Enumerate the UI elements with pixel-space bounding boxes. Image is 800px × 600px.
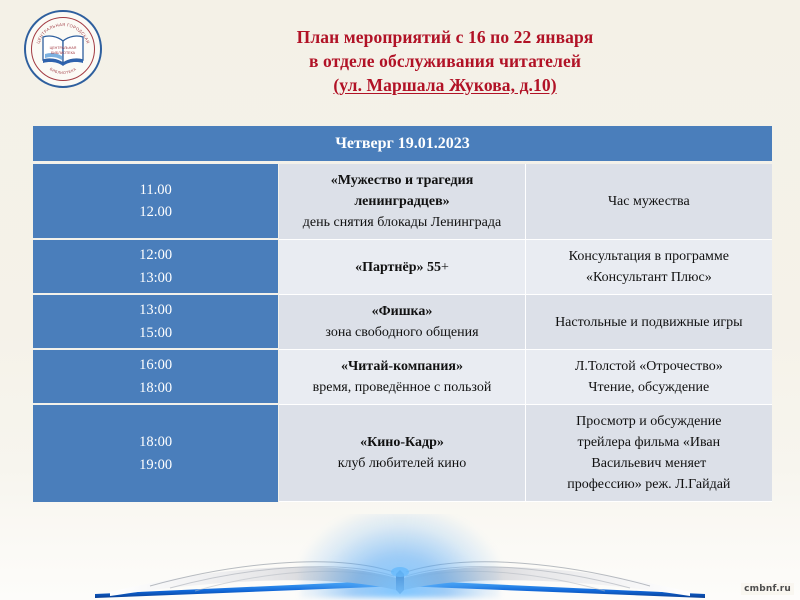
time-cell: 18:0019:00 [33,405,279,502]
event-title: «Кино-Кадр» [289,432,514,453]
description-line: Час мужества [536,191,762,212]
event-title: «Мужество и трагедия ленинградцев» [289,170,514,212]
event-title-text: «Партнёр» 55 [355,260,441,275]
title-line-2: в отделе обслуживания читателей [190,50,700,74]
time-start: 13:00 [33,299,278,321]
description-cell: Настольные и подвижные игры [526,295,772,350]
event-title-text: «Читай-компания» [341,359,463,374]
schedule-row: 11.0012.00«Мужество и трагедия ленинград… [33,164,772,240]
description-line: Л.Толстой «Отрочество» [536,356,762,377]
description-line: «Консультант Плюс» [536,267,762,288]
svg-text:БИБЛИОТЕКА: БИБЛИОТЕКА [49,67,77,75]
day-header-row: Четверг 19.01.2023 [33,126,772,164]
schedule-row: 18:0019:00«Кино-Кадр»клуб любителей кино… [33,405,772,502]
time-start: 16:00 [33,354,278,376]
time-end: 15:00 [33,322,278,344]
site-watermark: cmbnf.ru [741,583,794,595]
day-header-cell: Четверг 19.01.2023 [33,126,772,164]
event-title: «Партнёр» 55+ [289,257,514,278]
time-end: 18:00 [33,377,278,399]
open-book-illustration [0,514,800,600]
title-line-3-address: (ул. Маршала Жукова, д.10) [190,74,700,98]
time-cell: 13:0015:00 [33,295,279,350]
description-cell: Л.Толстой «Отрочество»Чтение, обсуждение [526,350,772,405]
time-start: 11.00 [33,179,278,201]
time-start: 18:00 [33,431,278,453]
central-library-emblem: ЦЕНТРАЛЬНАЯ ГОРОДСКАЯ БИБЛИОТЕКА ЦЕНТРАЛ… [24,10,102,88]
event-subtitle: клуб любителей кино [289,453,514,474]
event-title-text: «Фишка» [372,304,433,319]
description-line: трейлера фильма «Иван [536,432,762,453]
time-end: 13:00 [33,267,278,289]
event-subtitle: день снятия блокады Ленинграда [289,212,514,233]
schedule-table-body: 11.0012.00«Мужество и трагедия ленинград… [33,164,772,502]
event-cell: «Партнёр» 55+ [279,240,525,295]
time-cell: 12:0013:00 [33,240,279,295]
event-title: «Читай-компания» [289,356,514,377]
svg-text:ЦЕНТРАЛЬНАЯ: ЦЕНТРАЛЬНАЯ [50,46,77,50]
schedule-row: 16:0018:00«Читай-компания»время, проведё… [33,350,772,405]
description-line: Консультация в программе [536,246,762,267]
emblem-book-icon: ЦЕНТРАЛЬНАЯ ГОРОДСКАЯ БИБЛИОТЕКА ЦЕНТРАЛ… [24,10,102,88]
time-cell: 11.0012.00 [33,164,279,240]
event-title-text: «Кино-Кадр» [360,435,444,450]
poster-page: ЦЕНТРАЛЬНАЯ ГОРОДСКАЯ БИБЛИОТЕКА ЦЕНТРАЛ… [0,0,800,600]
time-cell: 16:0018:00 [33,350,279,405]
time-end: 19:00 [33,454,278,476]
title-line-1: План мероприятий с 16 по 22 января [190,26,700,50]
description-line: Чтение, обсуждение [536,377,762,398]
page-title: План мероприятий с 16 по 22 января в отд… [190,26,700,97]
event-cell: «Фишка»зона свободного общения [279,295,525,350]
schedule-row: 12:0013:00«Партнёр» 55+Консультация в пр… [33,240,772,295]
book-glow [300,514,500,598]
event-subtitle: время, проведённое с пользой [289,377,514,398]
event-title-suffix: + [441,260,449,275]
schedule-table-head: Четверг 19.01.2023 [33,126,772,164]
event-title-text: «Мужество и трагедия ленинградцев» [331,173,474,209]
event-title: «Фишка» [289,301,514,322]
time-start: 12:00 [33,244,278,266]
description-cell: Просмотр и обсуждениетрейлера фильма «Ив… [526,405,772,502]
description-cell: Консультация в программе«Консультант Плю… [526,240,772,295]
event-cell: «Читай-компания»время, проведённое с пол… [279,350,525,405]
event-cell: «Кино-Кадр»клуб любителей кино [279,405,525,502]
description-line: Просмотр и обсуждение [536,411,762,432]
description-line: Васильевич меняет [536,453,762,474]
event-subtitle: зона свободного общения [289,322,514,343]
poster-header: ЦЕНТРАЛЬНАЯ ГОРОДСКАЯ БИБЛИОТЕКА ЦЕНТРАЛ… [0,0,800,118]
schedule-row: 13:0015:00«Фишка»зона свободного общения… [33,295,772,350]
schedule-table: Четверг 19.01.2023 11.0012.00«Мужество и… [33,126,772,502]
description-line: Настольные и подвижные игры [536,312,762,333]
time-end: 12.00 [33,201,278,223]
description-cell: Час мужества [526,164,772,240]
description-line: профессию» реж. Л.Гайдай [536,474,762,495]
svg-text:БИБЛИОТЕКА: БИБЛИОТЕКА [51,51,76,55]
event-cell: «Мужество и трагедия ленинградцев»день с… [279,164,525,240]
